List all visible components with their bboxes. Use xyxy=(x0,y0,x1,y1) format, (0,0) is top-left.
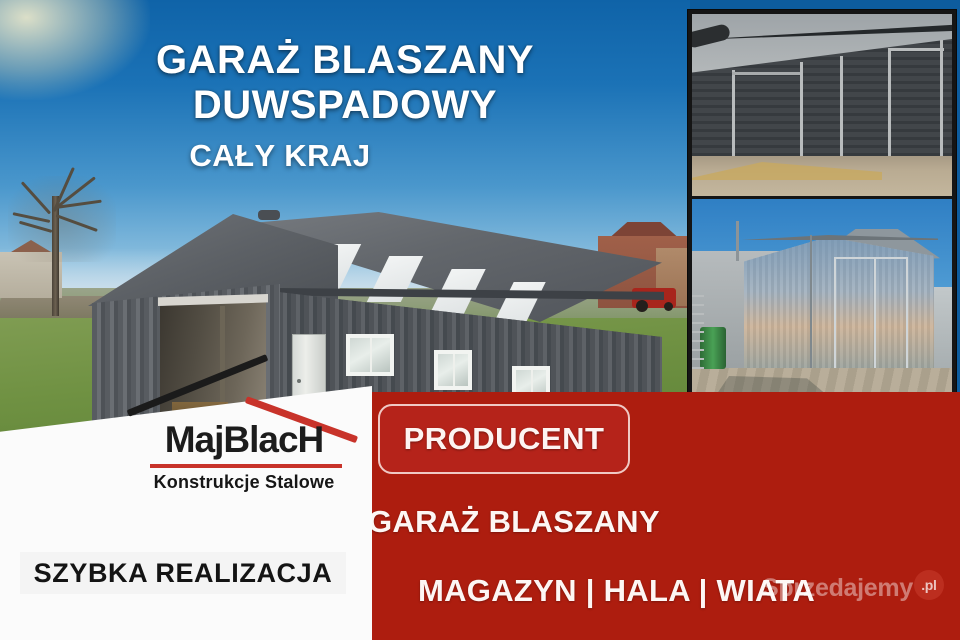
advertisement-banner: GARAŻ BLASZANY DUWSPADOWY CAŁY KRAJ xyxy=(0,0,960,640)
roof-ridge xyxy=(258,210,280,220)
company-logo: MajBlacH Konstrukcje Stalowe xyxy=(128,396,360,504)
garage-window xyxy=(434,350,472,390)
subtitle: CAŁY KRAJ xyxy=(0,138,560,174)
door-center-seam xyxy=(874,257,876,369)
door-frame xyxy=(940,40,943,168)
service-line-garage: GARAŻ BLASZANY xyxy=(368,500,698,544)
producent-label: PRODUCENT xyxy=(404,421,605,457)
producent-badge: PRODUCENT xyxy=(378,404,630,474)
logo-company-name: MajBlacH xyxy=(128,418,360,462)
watermark-tld-badge: .pl xyxy=(914,570,944,600)
fast-realization-label: SZYBKA REALIZACJA xyxy=(34,558,333,589)
garage-window xyxy=(346,334,394,376)
door-frame xyxy=(834,257,908,369)
antenna-mast xyxy=(736,221,739,261)
logo-underline xyxy=(150,464,342,468)
page-title: GARAŻ BLASZANY DUWSPADOWY xyxy=(0,38,690,128)
watermark-text: Sprzedajemy xyxy=(762,574,913,603)
door-frame xyxy=(888,48,891,172)
ladder xyxy=(692,295,704,371)
watermark: Sprzedajemy .pl xyxy=(762,574,944,603)
door-header xyxy=(888,48,944,51)
logo-tagline: Konstrukcje Stalowe xyxy=(128,472,360,493)
door-header xyxy=(732,72,802,75)
fast-realization-badge: SZYBKA REALIZACJA xyxy=(20,552,346,594)
corner-trim xyxy=(810,235,812,369)
photo-graphite-hall xyxy=(692,14,952,196)
